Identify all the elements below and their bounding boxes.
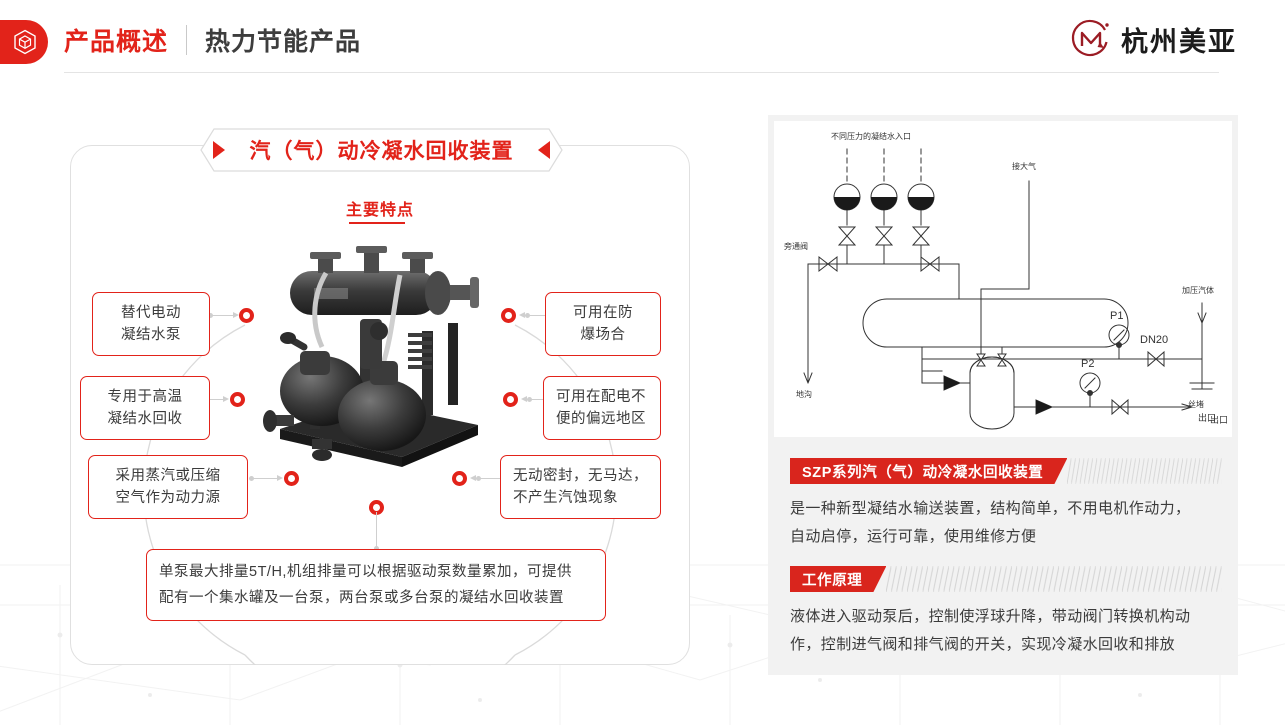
feature-label-right-2-line2: 便的偏远地区 bbox=[556, 408, 648, 430]
diagram-label-inlet: 不同压力的凝结水入口 bbox=[831, 131, 911, 141]
header-badge bbox=[0, 20, 48, 64]
feature-label-left-3: 采用蒸汽或压缩 空气作为动力源 bbox=[88, 455, 248, 519]
features-subtitle-underline bbox=[349, 222, 405, 224]
feature-label-left-2: 专用于高温 凝结水回收 bbox=[80, 376, 210, 440]
connector-line-6 bbox=[476, 478, 500, 479]
feature-label-left-2-line1: 专用于高温 bbox=[93, 386, 197, 408]
connector-line-3 bbox=[249, 478, 277, 479]
diagram-label-dn20: DN20 bbox=[1140, 334, 1168, 346]
feature-marker-6 bbox=[452, 471, 467, 486]
diagram-label-pressurized-gas: 加压汽体 bbox=[1182, 285, 1214, 295]
feature-label-left-3-line1: 采用蒸汽或压缩 bbox=[101, 465, 235, 487]
connector-line-7 bbox=[376, 512, 377, 550]
diagram-label-plug: 丝堵 bbox=[1188, 399, 1204, 409]
info-section-2-banner: 工作原理 bbox=[790, 566, 1222, 592]
feature-label-right-1-line1: 可用在防 bbox=[558, 302, 648, 324]
feature-label-right-2-line1: 可用在配电不 bbox=[556, 386, 648, 408]
diagram-label-p1: P1 bbox=[1110, 310, 1123, 322]
banner-hatch-decoration bbox=[1067, 458, 1222, 484]
info-section-1-line1: 是一种新型凝结水输送装置，结构简单，不用电机作动力， bbox=[790, 495, 1220, 523]
info-section-1-banner-label: SZP系列汽（气）动冷凝水回收装置 bbox=[790, 458, 1067, 484]
header-rule bbox=[64, 72, 1219, 73]
feature-marker-3 bbox=[284, 471, 299, 486]
info-section-1-body: 是一种新型凝结水输送装置，结构简单，不用电机作动力， 自动启停，运行可靠，使用维… bbox=[790, 495, 1220, 551]
features-subtitle: 主要特点 bbox=[0, 196, 760, 220]
feature-label-left-2-line2: 凝结水回收 bbox=[93, 408, 197, 430]
header-title-group: 产品概述 热力节能产品 bbox=[64, 22, 361, 58]
info-section-2-body: 液体进入驱动泵后，控制使浮球升降，带动阀门转换机构动 作，控制进气阀和排气阀的开… bbox=[790, 603, 1220, 659]
banner-hatch-decoration-2 bbox=[886, 566, 1222, 592]
feature-label-right-3-line2: 不产生汽蚀现象 bbox=[513, 487, 648, 509]
diagram-label-drain: 地沟 bbox=[796, 389, 812, 399]
feature-label-right-1: 可用在防 爆场合 bbox=[545, 292, 661, 356]
info-section-1-line2: 自动启停，运行可靠，使用维修方便 bbox=[790, 523, 1220, 551]
info-section-1: SZP系列汽（气）动冷凝水回收装置 是一种新型凝结水输送装置，结构简单，不用电机… bbox=[790, 458, 1222, 551]
info-section-2-banner-label: 工作原理 bbox=[790, 566, 886, 592]
feature-marker-4 bbox=[501, 308, 516, 323]
feature-marker-2 bbox=[230, 392, 245, 407]
page-title: 产品概述 bbox=[64, 22, 168, 58]
feature-label-right-1-line2: 爆场合 bbox=[558, 324, 648, 346]
feature-label-right-3-line1: 无动密封，无马达， bbox=[513, 465, 648, 487]
meiya-m-circle-logo-icon bbox=[1070, 18, 1112, 60]
info-section-2-line2: 作，控制进气阀和排气阀的开关，实现冷凝水回收和排放 bbox=[790, 631, 1220, 659]
feature-label-left-1-line1: 替代电动 bbox=[105, 302, 197, 324]
info-section-2-line1: 液体进入驱动泵后，控制使浮球升降，带动阀门转换机构动 bbox=[790, 603, 1220, 631]
section-banner-title: 汽（气）动冷凝水回收装置 bbox=[200, 128, 563, 172]
diagram-label-p2: P2 bbox=[1081, 358, 1094, 370]
connector-line-1 bbox=[208, 315, 233, 316]
feature-label-left-1: 替代电动 凝结水泵 bbox=[92, 292, 210, 356]
feature-label-left-3-line2: 空气作为动力源 bbox=[101, 487, 235, 509]
feature-label-bottom-line2: 配有一个集水罐及一台泵，两台泵或多台泵的凝结水回收装置 bbox=[159, 585, 593, 611]
feature-marker-1 bbox=[239, 308, 254, 323]
slide-root: 产品概述 热力节能产品 杭州美亚 汽（气）动冷凝水回收装置 主要特点 bbox=[0, 0, 1285, 725]
info-section-1-banner: SZP系列汽（气）动冷凝水回收装置 bbox=[790, 458, 1222, 484]
feature-label-right-2: 可用在配电不 便的偏远地区 bbox=[543, 376, 661, 440]
diagram-label-to-atmosphere: 接大气 bbox=[1012, 161, 1036, 171]
feature-label-right-3: 无动密封，无马达， 不产生汽蚀现象 bbox=[500, 455, 661, 519]
page-header: 产品概述 热力节能产品 杭州美亚 bbox=[0, 0, 1285, 82]
info-section-2: 工作原理 液体进入驱动泵后，控制使浮球升降，带动阀门转换机构动 作，控制进气阀和… bbox=[790, 566, 1222, 659]
schematic-diagram-svg: 不同压力的凝结水入口 旁通阀 接大气 地沟 加压汽体 丝堵 出口 P1 P2 D… bbox=[774, 121, 1232, 437]
feature-label-left-1-line2: 凝结水泵 bbox=[105, 324, 197, 346]
diagram-label-outlet-text: 出口 bbox=[1210, 414, 1228, 425]
brand-logo-text: 杭州美亚 bbox=[1121, 20, 1237, 59]
brand-logo: 杭州美亚 bbox=[1070, 18, 1237, 60]
section-banner: 汽（气）动冷凝水回收装置 bbox=[200, 128, 563, 172]
feature-marker-5 bbox=[503, 392, 518, 407]
feature-label-bottom-line1: 单泵最大排量5T/H,机组排量可以根据驱动泵数量累加，可提供 bbox=[159, 559, 593, 585]
product-photo bbox=[252, 243, 498, 486]
cube-hexagon-icon bbox=[13, 29, 37, 55]
diagram-label-bypass-valve: 旁通阀 bbox=[784, 241, 808, 251]
schematic-diagram: 不同压力的凝结水入口 旁通阀 接大气 地沟 加压汽体 丝堵 出口 P1 P2 D… bbox=[774, 121, 1232, 437]
header-divider bbox=[186, 25, 187, 55]
feature-label-bottom: 单泵最大排量5T/H,机组排量可以根据驱动泵数量累加，可提供 配有一个集水罐及一… bbox=[146, 549, 606, 621]
page-subtitle: 热力节能产品 bbox=[205, 22, 361, 58]
